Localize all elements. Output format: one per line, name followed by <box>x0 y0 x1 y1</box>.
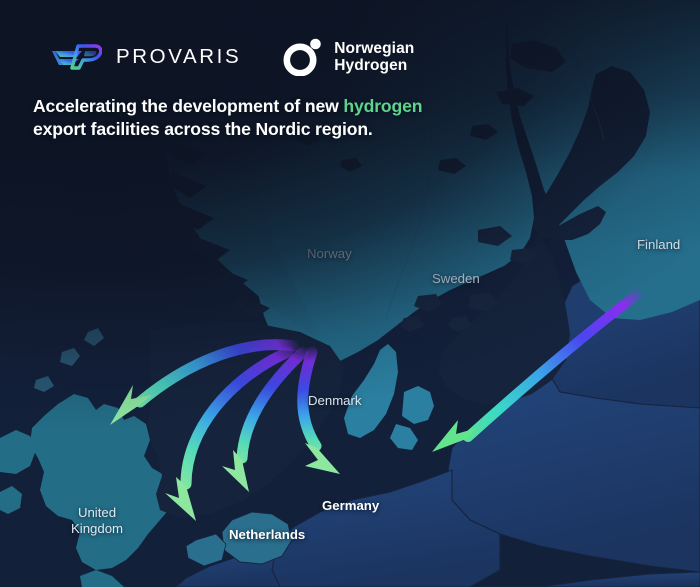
provaris-brand: PROVARIS <box>52 41 241 73</box>
provaris-logo-icon <box>52 41 102 73</box>
infographic-canvas: Norway Sweden Finland Denmark United Kin… <box>0 0 700 587</box>
provaris-wordmark: PROVARIS <box>116 47 241 68</box>
norwegian-hydrogen-brand: Norwegian Hydrogen <box>283 38 414 76</box>
headline-line2: export facilities across the Nordic regi… <box>33 119 373 139</box>
page-headline: Accelerating the development of new hydr… <box>0 95 503 141</box>
headline-line1-pre: Accelerating the development of new <box>33 96 343 116</box>
headline-accent-word: hydrogen <box>343 96 422 116</box>
header: PROVARIS Norwegian Hydrogen Accelerating… <box>0 0 700 141</box>
norwegian-hydrogen-wordmark: Norwegian Hydrogen <box>334 40 414 75</box>
norwegian-hydrogen-logo-icon <box>283 38 323 76</box>
brand-row: PROVARIS Norwegian Hydrogen <box>0 34 700 80</box>
